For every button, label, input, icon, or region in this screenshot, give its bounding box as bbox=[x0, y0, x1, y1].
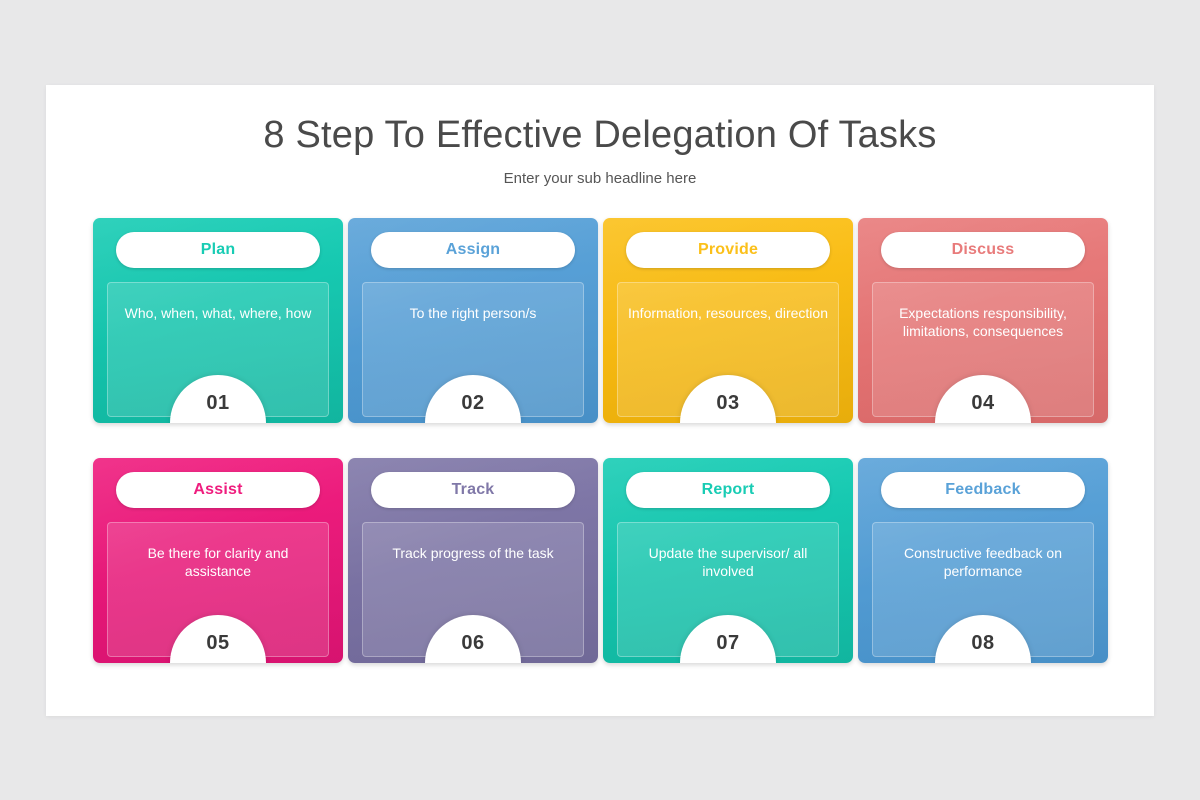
step-label-pill-01[interactable]: Plan bbox=[116, 232, 320, 268]
step-description-02: To the right person/s bbox=[373, 304, 573, 322]
step-number-01: 01 bbox=[206, 392, 229, 423]
step-description-01: Who, when, what, where, how bbox=[118, 304, 318, 322]
step-card-05[interactable]: Assist Be there for clarity and assistan… bbox=[93, 458, 343, 663]
page-title: 8 Step To Effective Delegation Of Tasks bbox=[46, 114, 1154, 157]
step-label-02: Assign bbox=[446, 241, 501, 259]
step-label-04: Discuss bbox=[952, 241, 1015, 259]
step-label-pill-04[interactable]: Discuss bbox=[881, 232, 1085, 268]
step-number-02: 02 bbox=[461, 392, 484, 423]
step-label-06: Track bbox=[452, 481, 495, 499]
step-description-08: Constructive feedback on performance bbox=[883, 544, 1083, 580]
step-label-pill-07[interactable]: Report bbox=[626, 472, 830, 508]
step-card-01[interactable]: Plan Who, when, what, where, how 01 bbox=[93, 218, 343, 423]
step-card-07[interactable]: Report Update the supervisor/ all involv… bbox=[603, 458, 853, 663]
step-description-06: Track progress of the task bbox=[373, 544, 573, 562]
step-label-05: Assist bbox=[193, 481, 242, 499]
steps-grid: Plan Who, when, what, where, how 01 Assi… bbox=[93, 218, 1109, 663]
step-card-08[interactable]: Feedback Constructive feedback on perfor… bbox=[858, 458, 1108, 663]
step-description-05: Be there for clarity and assistance bbox=[118, 544, 318, 580]
step-label-pill-05[interactable]: Assist bbox=[116, 472, 320, 508]
step-label-pill-03[interactable]: Provide bbox=[626, 232, 830, 268]
step-card-04[interactable]: Discuss Expectations responsibility, lim… bbox=[858, 218, 1108, 423]
step-card-02[interactable]: Assign To the right person/s 02 bbox=[348, 218, 598, 423]
page-subtitle: Enter your sub headline here bbox=[46, 170, 1154, 187]
slide-canvas: 8 Step To Effective Delegation Of Tasks … bbox=[46, 85, 1154, 716]
step-description-07: Update the supervisor/ all involved bbox=[628, 544, 828, 580]
step-label-pill-02[interactable]: Assign bbox=[371, 232, 575, 268]
step-label-pill-08[interactable]: Feedback bbox=[881, 472, 1085, 508]
step-card-06[interactable]: Track Track progress of the task 06 bbox=[348, 458, 598, 663]
step-number-08: 08 bbox=[971, 632, 994, 663]
step-number-05: 05 bbox=[206, 632, 229, 663]
step-description-03: Information, resources, direction bbox=[628, 304, 828, 322]
step-label-pill-06[interactable]: Track bbox=[371, 472, 575, 508]
step-number-06: 06 bbox=[461, 632, 484, 663]
step-label-07: Report bbox=[702, 481, 755, 499]
step-number-04: 04 bbox=[971, 392, 994, 423]
step-card-03[interactable]: Provide Information, resources, directio… bbox=[603, 218, 853, 423]
step-label-08: Feedback bbox=[945, 481, 1020, 499]
step-label-03: Provide bbox=[698, 241, 758, 259]
step-description-04: Expectations responsibility, limitations… bbox=[883, 304, 1083, 340]
step-number-07: 07 bbox=[716, 632, 739, 663]
step-label-01: Plan bbox=[201, 241, 236, 259]
step-number-03: 03 bbox=[716, 392, 739, 423]
